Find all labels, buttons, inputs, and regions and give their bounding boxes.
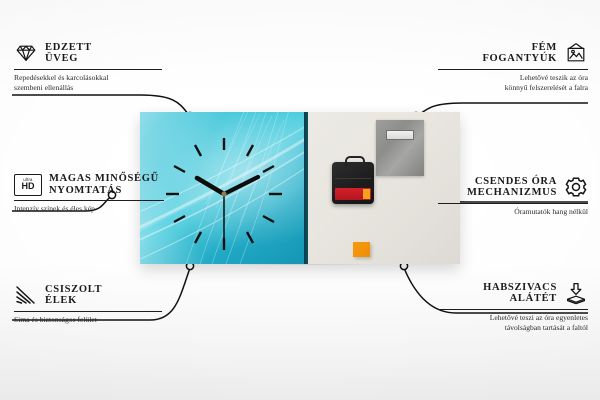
- clock-center-cap: [221, 191, 226, 196]
- callout-silent-mechanism: CSENDES ÓRA MECHANIZMUS Óramutatók hang …: [438, 175, 588, 217]
- ultra-hd-icon-main: HD: [22, 182, 35, 191]
- callout-title: EDZETT ÜVEG: [45, 42, 92, 65]
- callout-divider: [14, 69, 162, 70]
- callout-title: HABSZIVACS ALÁTÉT: [483, 282, 557, 305]
- callout-high-quality-print: ultra HD MAGAS MINŐSÉGŰ NYOMTATÁS Intenz…: [14, 173, 164, 214]
- callout-title: MAGAS MINŐSÉGŰ NYOMTATÁS: [49, 173, 159, 196]
- callout-description: Intenzív színek és éles kép: [14, 204, 164, 214]
- callout-divider: [438, 203, 588, 204]
- callout-description: Óramutatók hang nélkül: [438, 207, 588, 217]
- diamond-icon: [14, 41, 38, 65]
- callout-description: Sima és biztonságos felület: [14, 315, 162, 325]
- clock-mechanism: [332, 162, 374, 204]
- callout-header: CSENDES ÓRA MECHANIZMUS: [438, 175, 588, 199]
- polished-edge-icon: [14, 283, 38, 307]
- callout-header: HABSZIVACS ALÁTÉT: [438, 281, 588, 305]
- mechanism-hook: [345, 156, 365, 167]
- callout-header: ultra HD MAGAS MINŐSÉGŰ NYOMTATÁS: [14, 173, 164, 196]
- callout-metal-handles: FÉM FOGANTYÚK Lehetővé teszik az óra kön…: [438, 41, 588, 92]
- callout-description: Lehetővé teszi az óra egyenletes távolsá…: [438, 313, 588, 332]
- callout-title: CSISZOLT ÉLEK: [45, 284, 102, 307]
- callout-polished-edges: CSISZOLT ÉLEK Sima és biztonságos felüle…: [14, 283, 162, 325]
- callout-foam-pad: HABSZIVACS ALÁTÉT Lehetővé teszi az óra …: [438, 281, 588, 332]
- clock-front-panel: [140, 112, 308, 264]
- callout-description: Repedésekkel és karcolásokkal szembeni e…: [14, 73, 162, 92]
- hanger-slot: [386, 130, 414, 140]
- foam-spacer-pad: [353, 242, 370, 257]
- mechanism-battery-label: [335, 188, 371, 200]
- product-image: [140, 112, 460, 264]
- gear-icon: [564, 175, 588, 199]
- callout-divider: [438, 309, 588, 310]
- callout-header: CSISZOLT ÉLEK: [14, 283, 162, 307]
- clock-hour-hand: [197, 178, 224, 194]
- callout-title: CSENDES ÓRA MECHANIZMUS: [467, 176, 557, 199]
- clock-face: [140, 112, 308, 264]
- callout-header: FÉM FOGANTYÚK: [438, 41, 588, 65]
- callout-tempered-glass: EDZETT ÜVEG Repedésekkel és karcolásokka…: [14, 41, 162, 92]
- metal-hanger-plate: [376, 120, 424, 176]
- callout-divider: [14, 311, 162, 312]
- callout-divider: [438, 69, 588, 70]
- callout-description: Lehetővé teszik az óra könnyű felszerelé…: [438, 73, 588, 92]
- clock-minute-hand: [224, 177, 258, 194]
- infographic-canvas: EDZETT ÜVEG Repedésekkel és karcolásokka…: [0, 0, 600, 400]
- picture-hanger-icon: [564, 41, 588, 65]
- callout-header: EDZETT ÜVEG: [14, 41, 162, 65]
- ultra-hd-icon: ultra HD: [14, 174, 42, 196]
- callout-divider: [14, 200, 164, 201]
- foam-pad-icon: [564, 281, 588, 305]
- mechanism-seam: [335, 178, 371, 179]
- callout-title: FÉM FOGANTYÚK: [482, 42, 557, 65]
